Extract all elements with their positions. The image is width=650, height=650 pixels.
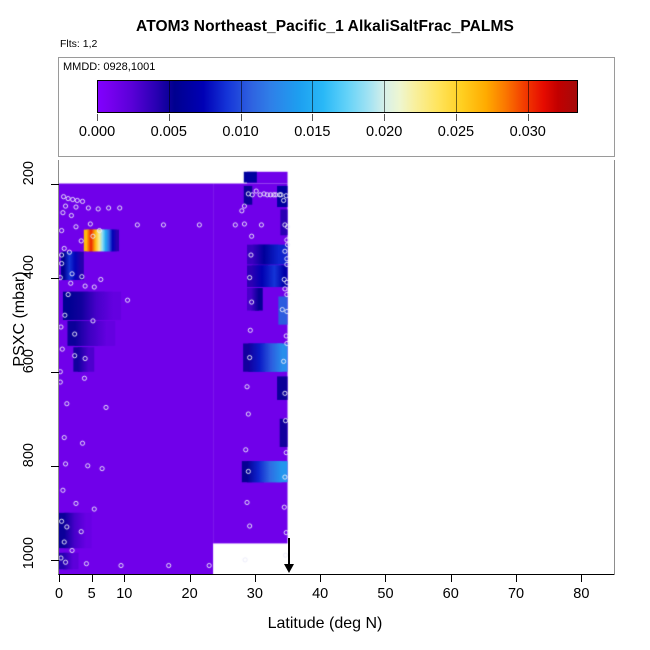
arrow-shaft	[288, 538, 290, 566]
y-axis-tick-label: 400	[21, 255, 37, 297]
x-axis-tick-label: 30	[225, 586, 285, 602]
y-axis-tick	[51, 184, 59, 185]
arrow-head	[284, 564, 294, 573]
x-axis-tick	[516, 575, 517, 582]
colorbar	[97, 80, 578, 113]
y-axis-tick	[51, 278, 59, 279]
x-axis-tick-label: 60	[421, 586, 481, 602]
y-axis-tick-label: 200	[21, 161, 37, 203]
x-axis-tick-label: 40	[290, 586, 350, 602]
plot-frame-right-edge	[614, 160, 615, 575]
x-axis-tick	[92, 575, 93, 582]
colorbar-tick	[384, 114, 385, 121]
heatmap-data-area	[59, 160, 614, 574]
x-axis-tick	[385, 575, 386, 582]
x-axis-tick	[320, 575, 321, 582]
flights-label: Flts: 1,2	[60, 38, 97, 50]
x-axis-tick	[255, 575, 256, 582]
x-axis-tick-label: 20	[160, 586, 220, 602]
colorbar-tick	[241, 114, 242, 121]
colorbar-separator	[528, 81, 529, 112]
y-axis-tick	[51, 372, 59, 373]
x-axis-tick-label: 10	[94, 586, 154, 602]
colorbar-tick-label: 0.010	[206, 124, 276, 140]
x-axis-tick	[59, 575, 60, 582]
colorbar-separator	[312, 81, 313, 112]
mmdd-label: MMDD: 0928,1001	[63, 61, 155, 73]
colorbar-tick-label: 0.030	[493, 124, 563, 140]
x-axis-tick	[124, 575, 125, 582]
colorbar-tick	[97, 114, 98, 121]
y-axis-tick-label: 600	[21, 349, 37, 391]
x-axis-tick	[190, 575, 191, 582]
y-axis-tick	[51, 560, 59, 561]
colorbar-tick	[169, 114, 170, 121]
page-title: ATOM3 Northeast_Pacific_1 AlkaliSaltFrac…	[0, 18, 650, 36]
colorbar-separator	[456, 81, 457, 112]
x-axis-tick	[581, 575, 582, 582]
colorbar-tick-label: 0.025	[421, 124, 491, 140]
colorbar-tick	[456, 114, 457, 121]
y-axis-tick	[51, 466, 59, 467]
colorbar-separator	[241, 81, 242, 112]
colorbar-tick-label: 0.005	[134, 124, 204, 140]
x-axis-tick-label: 70	[486, 586, 546, 602]
colorbar-separator	[384, 81, 385, 112]
colorbar-tick-label: 0.000	[62, 124, 132, 140]
x-axis-tick	[451, 575, 452, 582]
colorbar-tick	[528, 114, 529, 121]
colorbar-tick-label: 0.015	[277, 124, 347, 140]
y-axis-tick-label: 800	[21, 443, 37, 485]
x-axis-tick-label: 80	[551, 586, 611, 602]
colorbar-separator	[169, 81, 170, 112]
y-axis-tick-label: 1000	[21, 537, 37, 579]
heatmap-canvas	[59, 160, 614, 574]
colorbar-tick-label: 0.020	[349, 124, 419, 140]
colorbar-tick	[312, 114, 313, 121]
x-axis-tick-label: 50	[355, 586, 415, 602]
x-axis-title: Latitude (deg N)	[0, 615, 650, 633]
